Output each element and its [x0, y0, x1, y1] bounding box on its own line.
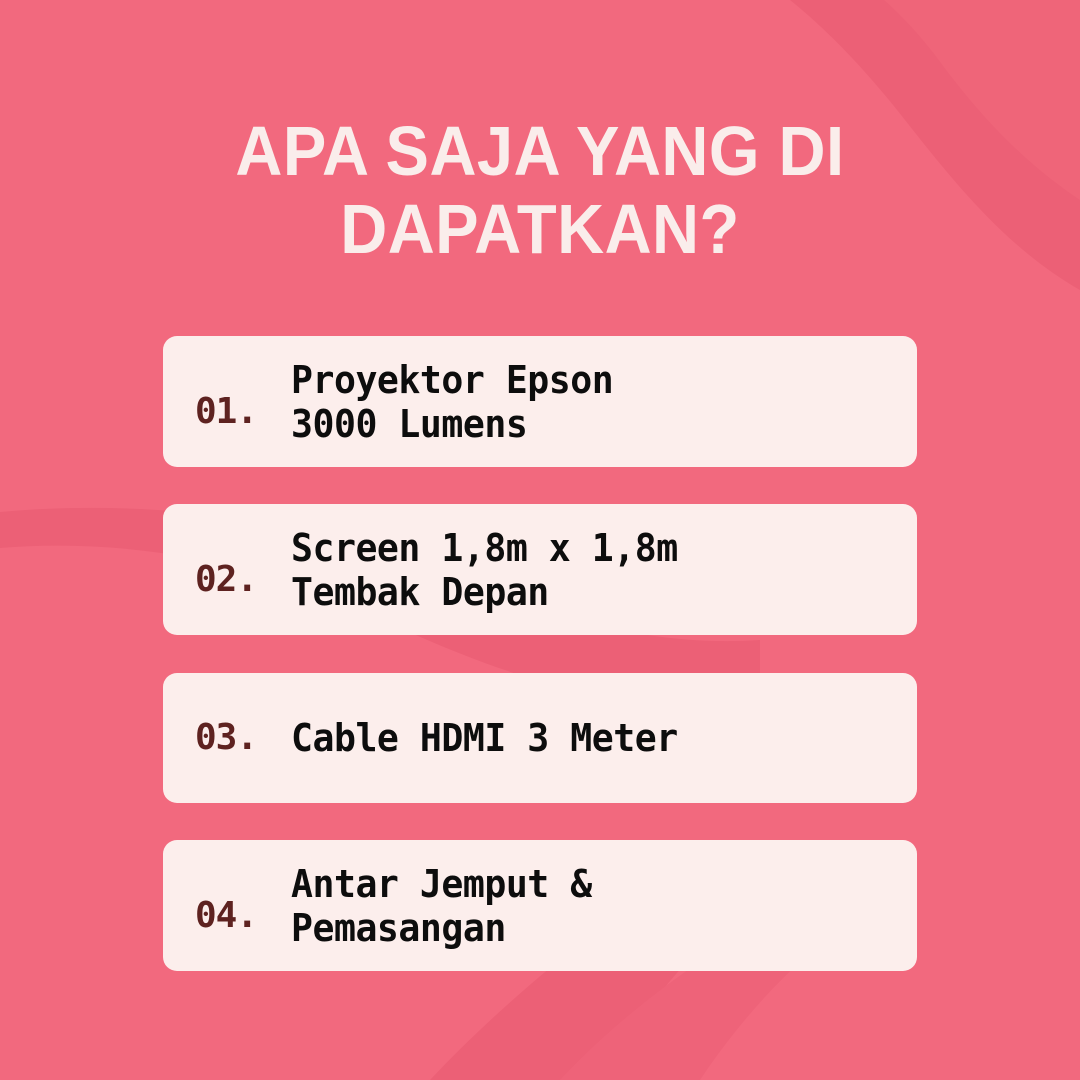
item-label-line-1: Proyektor Epson	[291, 358, 892, 402]
item-label-line-1: Screen 1,8m x 1,8m	[291, 526, 892, 570]
item-label: Proyektor Epson 3000 Lumens	[291, 358, 892, 446]
list-item: 01. Proyektor Epson 3000 Lumens	[163, 336, 917, 467]
item-number: 04.	[163, 876, 291, 936]
list-item: 03. Cable HDMI 3 Meter	[163, 673, 917, 803]
item-label-line-1: Antar Jemput &	[291, 862, 892, 906]
promo-poster: APA SAJA YANG DI DAPATKAN? 01. Proyektor…	[0, 0, 1080, 1080]
item-label-line-2: Tembak Depan	[291, 570, 892, 614]
list-item: 02. Screen 1,8m x 1,8m Tembak Depan	[163, 504, 917, 635]
poster-title-line-2: DAPATKAN?	[38, 190, 1042, 268]
item-number: 01.	[163, 372, 291, 432]
item-label-line-2: 3000 Lumens	[291, 402, 892, 446]
item-label: Cable HDMI 3 Meter	[291, 716, 892, 760]
poster-title-line-1: APA SAJA YANG DI	[38, 112, 1042, 190]
item-label: Screen 1,8m x 1,8m Tembak Depan	[291, 526, 892, 614]
item-number: 03.	[163, 718, 291, 758]
item-label: Antar Jemput & Pemasangan	[291, 862, 892, 950]
item-label-line-1: Cable HDMI 3 Meter	[291, 716, 892, 760]
item-label-line-2: Pemasangan	[291, 906, 892, 950]
item-number: 02.	[163, 540, 291, 600]
list-item: 04. Antar Jemput & Pemasangan	[163, 840, 917, 971]
poster-title: APA SAJA YANG DI DAPATKAN?	[0, 112, 1080, 268]
